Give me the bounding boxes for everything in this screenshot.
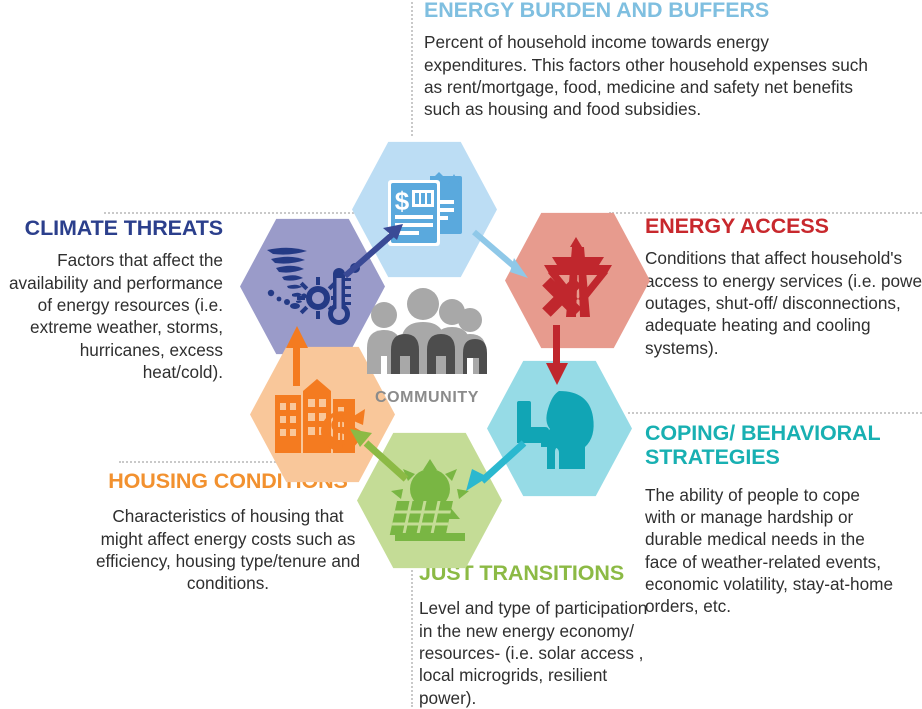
energy-burden-title: ENERGY BURDEN AND BUFFERS bbox=[424, 0, 894, 22]
housing-body: Characteristics of housing that might af… bbox=[92, 505, 364, 594]
climate-threats-body: Factors that affect the availability and… bbox=[8, 249, 223, 383]
just-transitions-body: Level and type of participation in the n… bbox=[419, 597, 659, 709]
arrow-burden-to-access bbox=[470, 226, 536, 286]
climate-threats-title: CLIMATE THREATS bbox=[8, 216, 223, 240]
node-energy-burden-text: ENERGY BURDEN AND BUFFERS Percent of hou… bbox=[424, 0, 894, 121]
coping-title: COPING/ BEHAVIORAL STRATEGIES bbox=[645, 421, 883, 470]
infographic-canvas: ENERGY BURDEN AND BUFFERS Percent of hou… bbox=[0, 0, 922, 705]
node-housing-text: HOUSING CONDITIONS Characteristics of ho… bbox=[92, 469, 364, 595]
node-energy-access-text: ENERGY ACCESS Conditions that affect hou… bbox=[645, 214, 922, 359]
arrow-climate-to-burden bbox=[339, 222, 407, 282]
coping-body: The ability of people to cope with or ma… bbox=[645, 484, 895, 618]
energy-access-title: ENERGY ACCESS bbox=[645, 214, 922, 238]
energy-access-body: Conditions that affect household's acces… bbox=[645, 247, 922, 359]
power-tower-outage-icon bbox=[532, 235, 624, 327]
svg-text:$: $ bbox=[394, 186, 409, 216]
community-people-icon bbox=[357, 369, 497, 386]
energy-burden-body: Percent of household income towards ener… bbox=[424, 31, 876, 120]
divider-right-lower bbox=[628, 412, 922, 414]
community-label: COMMUNITY bbox=[357, 389, 497, 407]
community-center: COMMUNITY bbox=[357, 282, 497, 407]
arrow-housing-to-climate bbox=[283, 320, 311, 386]
arrow-transitions-to-housing bbox=[340, 423, 412, 485]
node-just-transitions-text: JUST TRANSITIONS Level and type of parti… bbox=[419, 561, 669, 709]
node-coping-text: COPING/ BEHAVIORAL STRATEGIES The abilit… bbox=[645, 421, 915, 618]
divider-vertical-bottom bbox=[411, 551, 413, 707]
divider-vertical-top bbox=[411, 0, 413, 136]
arrow-access-to-coping bbox=[543, 325, 571, 387]
arrow-coping-to-transitions bbox=[458, 437, 528, 497]
node-climate-threats-text: CLIMATE THREATS Factors that affect the … bbox=[8, 216, 223, 383]
